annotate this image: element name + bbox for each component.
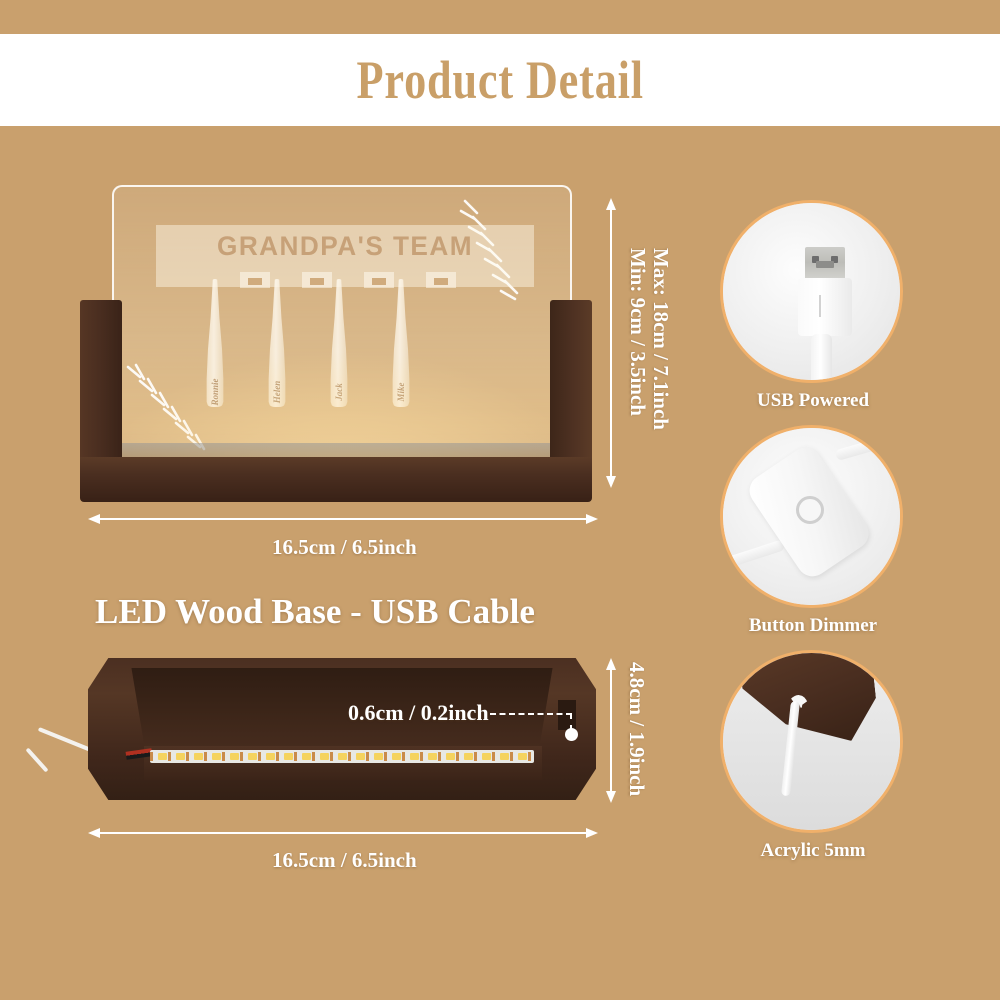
led-strip <box>150 750 534 763</box>
acrylic-slot-notch <box>558 700 576 730</box>
page-title: Product Detail <box>356 53 643 107</box>
wood-base-illustration <box>88 658 608 823</box>
inline-switch-icon <box>720 425 903 608</box>
slot-leader-line <box>490 713 572 715</box>
base-width-label: 16.5cm / 6.5inch <box>272 848 417 873</box>
product-detail-infographic: Product Detail <box>0 0 1000 1000</box>
baseball-bat: Mike <box>390 279 412 407</box>
lamp-width-label: 16.5cm / 6.5inch <box>272 535 417 560</box>
wood-base-cable-icon <box>720 650 903 833</box>
engraved-title-text: GRANDPA'S TEAM <box>162 231 529 262</box>
base-height-label: 4.8cm / 1.9inch <box>624 662 649 796</box>
hanger-hook <box>426 272 456 288</box>
baseball-bat: Jack <box>328 279 350 407</box>
callout-acrylic-thickness: Acrylic 5mm <box>703 650 953 875</box>
base-width-dimension-arrow <box>88 826 598 840</box>
callout-usb-powered: USB Powered <box>703 200 953 425</box>
bat-name-label: Helen <box>272 381 282 404</box>
hanger-hook <box>364 272 394 288</box>
hanger-hook <box>302 272 332 288</box>
base-height-dimension-arrow <box>604 658 618 803</box>
height-dimension-arrow <box>604 198 618 488</box>
usb-cable-exit-bend <box>25 748 48 773</box>
wood-base-body <box>88 658 596 800</box>
slot-leader-dot <box>565 728 578 741</box>
feature-callouts: USB Powered Button Dimmer <box>703 200 953 875</box>
lamp-width-dimension-arrow <box>88 512 598 526</box>
hanger-hook <box>240 272 270 288</box>
height-min-label: Min: 9cm / 3.5inch <box>625 248 650 416</box>
bat-name-label: Ronnie <box>210 378 220 405</box>
callout-label: Acrylic 5mm <box>703 840 923 862</box>
baseball-bat: Ronnie <box>204 279 226 407</box>
engraved-name-plate: GRANDPA'S TEAM <box>156 225 534 287</box>
slot-depth-label: 0.6cm / 0.2inch <box>348 700 489 726</box>
height-max-label: Max: 18cm / 7.1inch <box>648 248 673 430</box>
header-band: Product Detail <box>0 34 1000 126</box>
acrylic-panel: GRANDPA'S TEAM Ronnie Helen Jack Mike <box>112 185 572 470</box>
section-heading: LED Wood Base - USB Cable <box>95 592 535 632</box>
bat-name-label: Jack <box>334 383 344 401</box>
callout-button-dimmer: Button Dimmer <box>703 425 953 650</box>
bat-name-label: Mike <box>396 383 406 402</box>
lamp-assembly-illustration: GRANDPA'S TEAM Ronnie Helen Jack Mike <box>80 185 610 515</box>
baseball-bat: Helen <box>266 279 288 407</box>
wood-frame-base <box>80 457 592 502</box>
callout-label: Button Dimmer <box>703 615 923 637</box>
usb-plug-icon <box>720 200 903 383</box>
callout-label: USB Powered <box>703 390 923 412</box>
